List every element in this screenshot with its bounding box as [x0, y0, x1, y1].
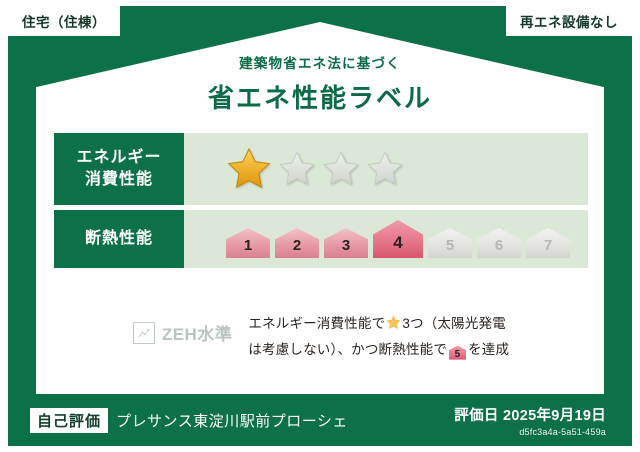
zeh-desc-part1: エネルギー消費性能で — [248, 316, 385, 331]
building-type-tag: 住宅（住棟） — [8, 6, 120, 36]
evaluation-date-value: 2025年9月19日 — [503, 408, 606, 424]
building-type-tag-label: 住宅（住棟） — [22, 11, 106, 31]
renewable-equipment-tag-label: 再エネ設備なし — [520, 11, 618, 31]
footer-right-group: 評価日 2025年9月19日 d5fc3a4a-5a51-459a — [454, 404, 606, 437]
house-strip: 1 2 3 4 5 6 7 — [226, 220, 570, 258]
insulation-grade-5: 5 — [428, 228, 472, 258]
insulation-performance-label-line1: 断熱性能 — [85, 228, 153, 250]
insulation-grade-7: 7 — [526, 228, 570, 258]
star-empty-3 — [322, 150, 360, 188]
self-evaluation-badge: 自己評価 — [30, 408, 108, 433]
insulation-grade-4: 4 — [373, 220, 423, 258]
inline-star-icon — [386, 318, 401, 333]
inline-house-grade-icon: 5 — [449, 346, 466, 360]
metric-rows: エネルギー 消費性能 — [54, 133, 588, 268]
page-title: 建築物省エネ法に基づく 省エネ性能ラベル — [0, 52, 640, 115]
zeh-desc-part4: を達成 — [468, 342, 509, 357]
energy-star-rating — [184, 133, 588, 205]
energy-consumption-label-line1: エネルギー — [76, 147, 161, 169]
title-main: 省エネ性能ラベル — [0, 78, 640, 115]
zeh-badge-label: ZEH水準 — [162, 320, 233, 345]
building-name: プレサンス東淀川駅前プローシェ — [116, 410, 348, 431]
renewable-equipment-tag: 再エネ設備なし — [506, 6, 632, 36]
evaluation-date: 評価日 2025年9月19日 — [454, 404, 606, 425]
evaluation-id: d5fc3a4a-5a51-459a — [454, 427, 606, 437]
insulation-grade-1: 1 — [226, 228, 270, 258]
insulation-grade-6: 6 — [477, 228, 521, 258]
zeh-description: エネルギー消費性能で3つ（太陽光発電は考慮しない）、かつ断熱性能で5を達成 — [248, 312, 509, 361]
insulation-grade-3: 3 — [324, 228, 368, 258]
insulation-performance-row: 断熱性能 1 2 3 4 5 6 7 — [54, 210, 588, 268]
star-filled-1 — [226, 146, 272, 192]
insulation-grade-2: 2 — [275, 228, 319, 258]
title-subtitle: 建築物省エネ法に基づく — [0, 52, 640, 72]
zeh-desc-part3: は考慮しない）、かつ断熱性能で — [248, 342, 447, 357]
star-empty-2 — [278, 150, 316, 188]
footer-left-group: 自己評価 プレサンス東淀川駅前プローシェ — [30, 408, 348, 433]
zeh-sparkle-icon — [133, 322, 155, 344]
zeh-desc-part2: 3つ（太陽光発電 — [402, 316, 506, 331]
insulation-performance-label: 断熱性能 — [54, 210, 184, 268]
energy-consumption-row: エネルギー 消費性能 — [54, 133, 588, 205]
zeh-standard-note: ZEH水準 エネルギー消費性能で3つ（太陽光発電は考慮しない）、かつ断熱性能で5… — [54, 312, 588, 361]
energy-performance-label: 住宅（住棟） 再エネ設備なし 建築物省エネ法に基づく 省エネ性能ラベル エネルギ… — [0, 0, 640, 452]
energy-consumption-label: エネルギー 消費性能 — [54, 133, 184, 205]
evaluation-date-label: 評価日 — [454, 408, 498, 424]
footer-bar: 自己評価 プレサンス東淀川駅前プローシェ 評価日 2025年9月19日 d5fc… — [8, 394, 632, 446]
energy-consumption-label-line2: 消費性能 — [85, 169, 153, 191]
star-empty-4 — [366, 150, 404, 188]
insulation-grade-scale: 1 2 3 4 5 6 7 — [184, 210, 588, 268]
zeh-badge: ZEH水準 — [133, 320, 233, 345]
